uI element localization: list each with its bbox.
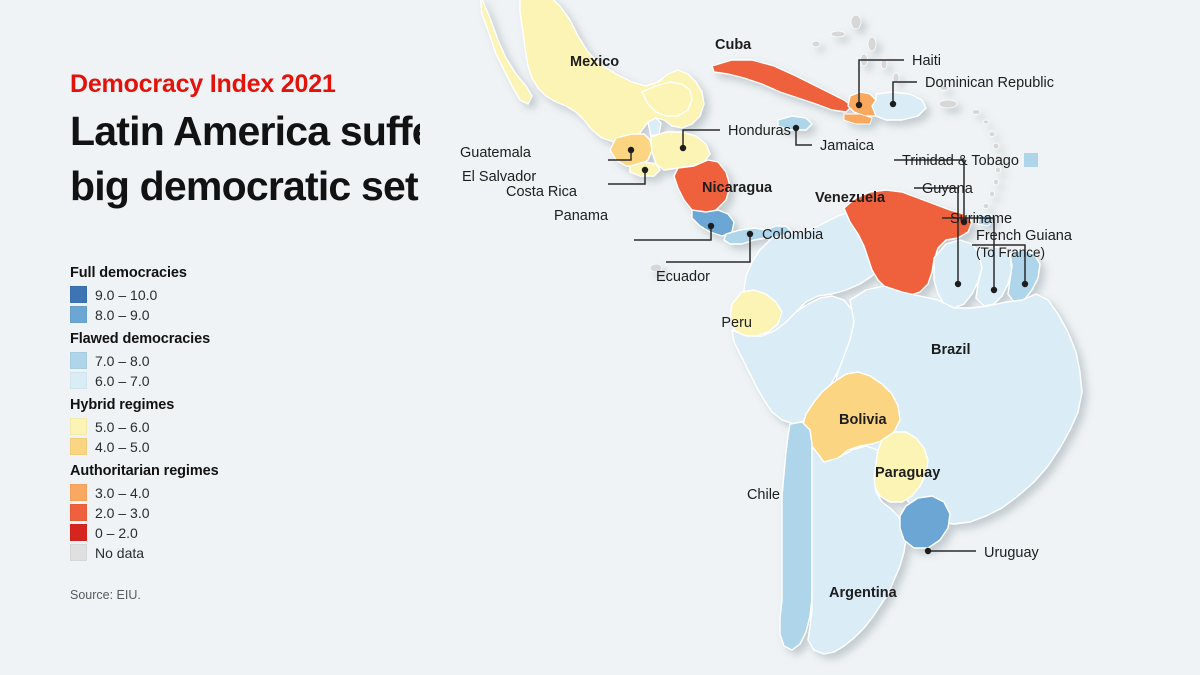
legend-swatch bbox=[70, 306, 87, 323]
legend-swatch bbox=[70, 372, 87, 389]
map-label-suriname: Suriname bbox=[950, 211, 1012, 227]
country-belize[interactable] bbox=[648, 118, 661, 136]
map-label-ecuador: Ecuador bbox=[656, 269, 710, 285]
legend-swatch bbox=[70, 544, 87, 561]
latin-america-map: Mexico Cuba Haiti Dominican Republic Gua… bbox=[420, 0, 1200, 675]
legend-item-label: 9.0 – 10.0 bbox=[95, 288, 157, 302]
legend-item-label: 6.0 – 7.0 bbox=[95, 374, 150, 388]
leader-dot-guatemala bbox=[628, 147, 634, 153]
legend-group-hybrid-regimes: Hybrid regimes 5.0 – 6.0 4.0 – 5.0 bbox=[70, 397, 320, 456]
source-note: Source: EIU. bbox=[70, 588, 141, 602]
legend-item: 9.0 – 10.0 bbox=[70, 285, 320, 304]
legend-swatch bbox=[70, 286, 87, 303]
legend-swatch bbox=[70, 438, 87, 455]
island-leeward-2[interactable] bbox=[989, 132, 995, 137]
island-bahamas-7[interactable] bbox=[812, 41, 820, 47]
island-grenada[interactable] bbox=[983, 203, 989, 208]
island-bahamas-1[interactable] bbox=[831, 31, 845, 37]
leader-dot-jamaica bbox=[793, 125, 799, 131]
leader-dot-el-salvador bbox=[642, 167, 648, 173]
map-label-bolivia: Bolivia bbox=[839, 412, 887, 428]
map-label-panama: Panama bbox=[554, 208, 609, 224]
legend-swatch bbox=[70, 352, 87, 369]
leader-dot-honduras bbox=[680, 145, 686, 151]
leader-dot-dominican-republic bbox=[890, 101, 896, 107]
map-label-guatemala: Guatemala bbox=[460, 145, 532, 161]
legend-group-title: Flawed democracies bbox=[70, 331, 320, 347]
island-leeward-1[interactable] bbox=[983, 120, 989, 124]
legend-item-label: 8.0 – 9.0 bbox=[95, 308, 150, 322]
map-label-nicaragua: Nicaragua bbox=[702, 180, 773, 196]
legend-item: 0 – 2.0 bbox=[70, 523, 320, 542]
legend-item-no-data: No data bbox=[70, 543, 320, 562]
legend-item: 3.0 – 4.0 bbox=[70, 483, 320, 502]
island-windward-4[interactable] bbox=[989, 191, 994, 197]
legend-item: 7.0 – 8.0 bbox=[70, 351, 320, 370]
legend-item-label: No data bbox=[95, 546, 144, 560]
kicker-label: Democracy Index 2021 bbox=[70, 70, 336, 99]
map-label-peru: Peru bbox=[721, 315, 752, 331]
island-leeward-3[interactable] bbox=[993, 143, 999, 149]
legend-item-label: 7.0 – 8.0 bbox=[95, 354, 150, 368]
map-label-paraguay: Paraguay bbox=[875, 465, 940, 481]
legend-swatch bbox=[70, 524, 87, 541]
map-label-jamaica: Jamaica bbox=[820, 138, 875, 154]
legend-item: 8.0 – 9.0 bbox=[70, 305, 320, 324]
map-label-french-guiana-sub: (To France) bbox=[976, 245, 1045, 260]
map-label-dominican-republic: Dominican Republic bbox=[925, 75, 1054, 91]
legend-swatch bbox=[70, 484, 87, 501]
legend-group-title: Hybrid regimes bbox=[70, 397, 320, 413]
map-label-haiti: Haiti bbox=[912, 53, 941, 69]
legend-group-authoritarian-regimes: Authoritarian regimes 3.0 – 4.0 2.0 – 3.… bbox=[70, 463, 320, 562]
map-label-argentina: Argentina bbox=[829, 585, 898, 601]
island-bahamas-3[interactable] bbox=[868, 37, 876, 51]
legend-group-title: Full democracies bbox=[70, 265, 320, 281]
legend-item-label: 3.0 – 4.0 bbox=[95, 486, 150, 500]
legend: Full democracies 9.0 – 10.0 8.0 – 9.0 Fl… bbox=[70, 265, 320, 569]
legend-swatch bbox=[70, 418, 87, 435]
map-label-french-guiana: French Guiana bbox=[976, 228, 1073, 244]
island-puerto-rico[interactable] bbox=[939, 100, 957, 108]
map-container: Mexico Cuba Haiti Dominican Republic Gua… bbox=[420, 0, 1200, 675]
leader-dot-french-guiana bbox=[1022, 281, 1028, 287]
map-label-trinidad-tobago: Trinidad & Tobago bbox=[902, 153, 1019, 169]
leader-dot-guyana bbox=[955, 281, 961, 287]
leader-dot-uruguay bbox=[925, 548, 931, 554]
map-swatch-trinidad-tobago bbox=[1024, 153, 1038, 167]
leader-dot-costa-rica bbox=[708, 223, 714, 229]
legend-group-title: Authoritarian regimes bbox=[70, 463, 320, 479]
island-windward-3[interactable] bbox=[993, 179, 998, 185]
map-label-chile: Chile bbox=[747, 487, 780, 503]
island-bahamas-2[interactable] bbox=[851, 15, 861, 29]
infographic-root: Democracy Index 2021 Latin America suffe… bbox=[0, 0, 1200, 675]
legend-item-label: 2.0 – 3.0 bbox=[95, 506, 150, 520]
map-label-guyana: Guyana bbox=[922, 181, 974, 197]
legend-item-label: 4.0 – 5.0 bbox=[95, 440, 150, 454]
map-label-costa-rica: Costa Rica bbox=[506, 184, 578, 200]
legend-item-label: 5.0 – 6.0 bbox=[95, 420, 150, 434]
map-label-venezuela: Venezuela bbox=[815, 190, 886, 206]
legend-swatch bbox=[70, 504, 87, 521]
map-label-cuba: Cuba bbox=[715, 37, 752, 53]
leader-dot-haiti bbox=[856, 102, 862, 108]
legend-group-full-democracies: Full democracies 9.0 – 10.0 8.0 – 9.0 bbox=[70, 265, 320, 324]
legend-item: 6.0 – 7.0 bbox=[70, 371, 320, 390]
map-label-el-salvador: El Salvador bbox=[462, 169, 536, 185]
leader-dot-suriname bbox=[991, 287, 997, 293]
map-label-colombia: Colombia bbox=[762, 227, 824, 243]
map-label-brazil: Brazil bbox=[931, 342, 971, 358]
legend-group-flawed-democracies: Flawed democracies 7.0 – 8.0 6.0 – 7.0 bbox=[70, 331, 320, 390]
legend-item: 2.0 – 3.0 bbox=[70, 503, 320, 522]
legend-item-label: 0 – 2.0 bbox=[95, 526, 138, 540]
legend-item: 4.0 – 5.0 bbox=[70, 437, 320, 456]
map-label-mexico: Mexico bbox=[570, 54, 619, 70]
legend-item: 5.0 – 6.0 bbox=[70, 417, 320, 436]
map-label-uruguay: Uruguay bbox=[984, 545, 1040, 561]
island-virgin[interactable] bbox=[972, 110, 980, 115]
map-label-honduras: Honduras bbox=[728, 123, 791, 139]
leader-dot-panama bbox=[747, 231, 753, 237]
